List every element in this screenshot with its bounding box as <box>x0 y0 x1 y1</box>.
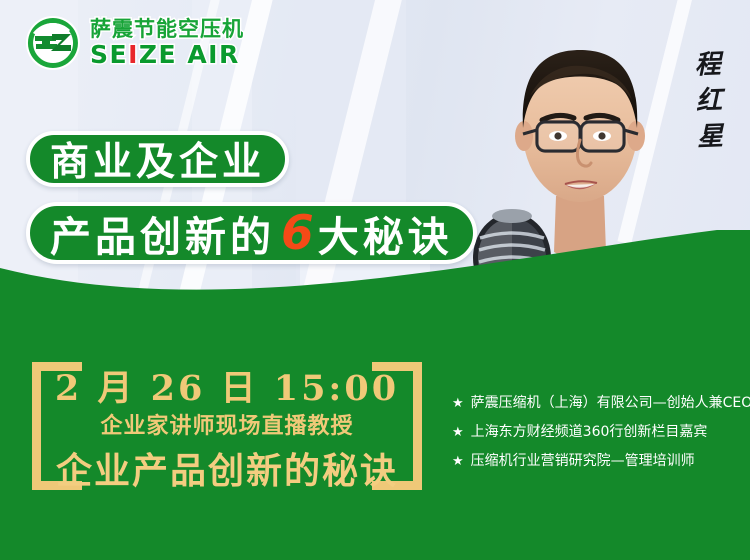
brand-en-red-letter: I <box>128 40 139 69</box>
credential-item: ★ 上海东方财经频道360行创新栏目嘉宾 <box>452 421 750 441</box>
event-topic: 企业产品创新的秘诀 <box>32 442 422 494</box>
event-bracket-block: 2 月 26 日 15:00 企业家讲师现场直播教授 企业产品创新的秘诀 <box>32 362 422 490</box>
headline-line-1: 商业及企业 <box>50 131 265 187</box>
brand-name-cn: 萨震节能空压机 <box>90 19 244 40</box>
headline-line-2-suffix: 大秘诀 <box>318 203 453 263</box>
brand-name-en: SEIZE AIR <box>90 42 244 67</box>
brand-logo[interactable]: 萨震节能空压机 SEIZE AIR <box>24 14 244 72</box>
headline-pill-1: 商业及企业 <box>26 131 289 187</box>
headline-line-2-prefix: 产品创新的 <box>50 203 275 263</box>
credentials-list: ★ 萨震压缩机（上海）有限公司—创始人兼CEO ★ 上海东方财经频道360行创新… <box>452 392 750 470</box>
brand-en-part1: SE <box>90 40 128 69</box>
brand-en-part2: ZE AIR <box>139 40 240 69</box>
star-icon: ★ <box>452 397 464 410</box>
credential-text: 萨震压缩机（上海）有限公司—创始人兼CEO <box>471 392 750 412</box>
credential-text: 上海东方财经频道360行创新栏目嘉宾 <box>471 421 708 441</box>
speaker-name-vertical: 程 红 星 <box>694 48 724 156</box>
speaker-name-char-2: 红 <box>695 83 722 120</box>
headline-number-six: 6 <box>281 206 314 261</box>
credential-item: ★ 萨震压缩机（上海）有限公司—创始人兼CEO <box>452 392 750 412</box>
speaker-name-char-3: 星 <box>697 119 724 156</box>
headline-pill-2: 产品创新的6大秘诀 <box>26 202 477 264</box>
brand-wordmark: 萨震节能空压机 SEIZE AIR <box>90 19 244 67</box>
speaker-name-char-1: 程 <box>694 48 721 85</box>
credential-item: ★ 压缩机行业营销研究院—管理培训师 <box>452 450 750 470</box>
star-icon: ★ <box>452 455 464 468</box>
star-icon: ★ <box>452 426 464 439</box>
sz-circle-logo-icon <box>24 14 82 72</box>
poster-canvas: 萨震节能空压机 SEIZE AIR 程 红 星 商业及企业 产品创新的6大秘诀 … <box>0 0 750 560</box>
event-datetime: 2 月 26 日 15:00 <box>32 360 422 411</box>
event-subtitle: 企业家讲师现场直播教授 <box>32 408 422 440</box>
credential-text: 压缩机行业营销研究院—管理培训师 <box>471 450 695 470</box>
